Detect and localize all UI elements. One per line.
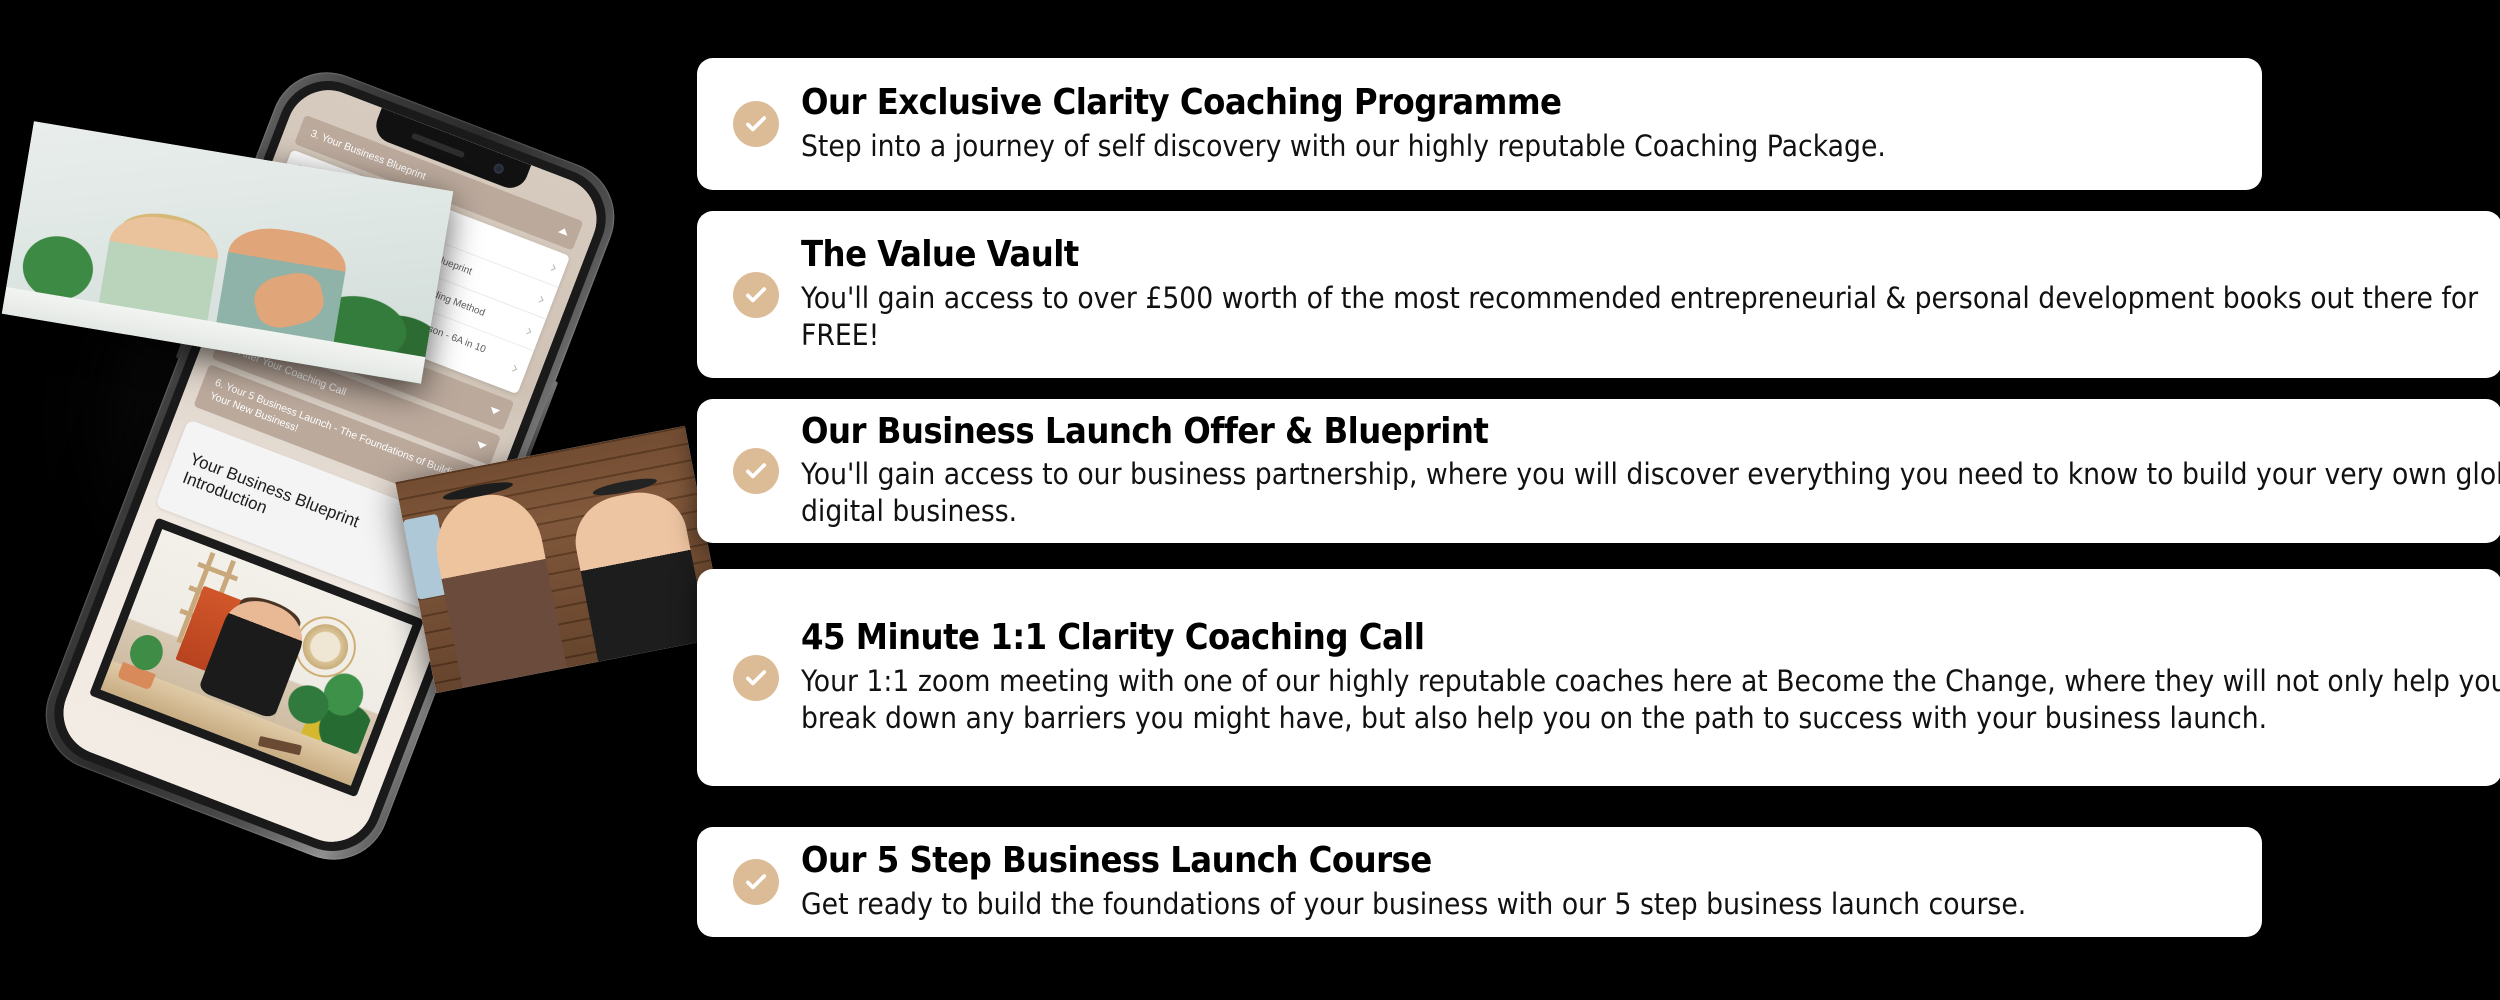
feature-description: Step into a journey of self discovery wi… — [801, 128, 2293, 165]
feature-card[interactable]: 45 Minute 1:1 Clarity Coaching Call Your… — [697, 569, 2500, 786]
feature-card[interactable]: Our Exclusive Clarity Coaching Programme… — [697, 58, 2262, 190]
feature-card[interactable]: The Value Vault You'll gain access to ov… — [697, 211, 2500, 378]
check-circle-icon — [733, 272, 779, 318]
feature-title: 45 Minute 1:1 Clarity Coaching Call — [801, 618, 2332, 658]
feature-title: Our 5 Step Business Launch Course — [801, 841, 2116, 881]
feature-description: You'll gain access to over £500 worth of… — [801, 280, 2500, 354]
feature-description: Get ready to build the foundations of yo… — [801, 886, 2293, 923]
feature-card[interactable]: Our Business Launch Offer & Blueprint Yo… — [697, 399, 2500, 543]
feature-card-list: Our Exclusive Clarity Coaching Programme… — [0, 0, 2500, 1000]
feature-description: Your 1:1 zoom meeting with one of our hi… — [801, 663, 2500, 737]
feature-description: You'll gain access to our business partn… — [801, 456, 2500, 530]
check-circle-icon — [733, 655, 779, 701]
check-circle-icon — [733, 448, 779, 494]
check-circle-icon — [733, 859, 779, 905]
feature-title: The Value Vault — [801, 235, 2332, 275]
feature-card[interactable]: Our 5 Step Business Launch Course Get re… — [697, 827, 2262, 937]
feature-title: Our Exclusive Clarity Coaching Programme — [801, 83, 2116, 123]
feature-title: Our Business Launch Offer & Blueprint — [801, 412, 2332, 452]
check-circle-icon — [733, 101, 779, 147]
